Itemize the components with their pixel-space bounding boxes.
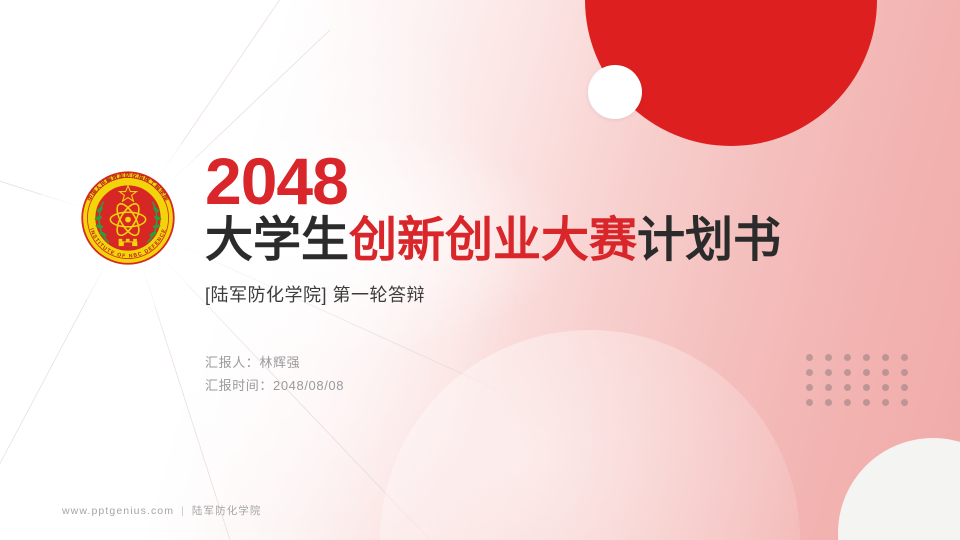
presentation-meta: 汇报人：林辉强 汇报时间：2048/08/08: [205, 352, 905, 398]
date-line: 汇报时间：2048/08/08: [205, 375, 905, 398]
academy-emblem-icon: 中国人民解放军防化指挥工程学院 INSTITUTE OF NBC DEFENCE: [76, 166, 180, 270]
title-highlight: 创新创业大赛: [349, 214, 637, 267]
footer-org: 陆军防化学院: [192, 503, 262, 518]
year-heading: 2048: [205, 150, 905, 213]
title-suffix: 计划书: [637, 214, 781, 267]
title-text-block: 2048 大学生创新创业大赛计划书 [陆军防化学院] 第一轮答辩 汇报人：林辉强…: [205, 150, 905, 398]
page-subtitle: [陆军防化学院] 第一轮答辩: [205, 281, 905, 307]
presenter-line: 汇报人：林辉强: [205, 352, 905, 375]
decorative-white-dot: [588, 65, 642, 119]
page-title: 大学生创新创业大赛计划书: [205, 215, 905, 267]
title-prefix: 大学生: [205, 214, 349, 267]
footer: www.pptgenius.com | 陆军防化学院: [62, 503, 262, 518]
footer-separator: |: [181, 505, 185, 517]
presentation-slide: 中国人民解放军防化指挥工程学院 INSTITUTE OF NBC DEFENCE: [0, 0, 960, 540]
footer-site[interactable]: www.pptgenius.com: [62, 505, 174, 517]
